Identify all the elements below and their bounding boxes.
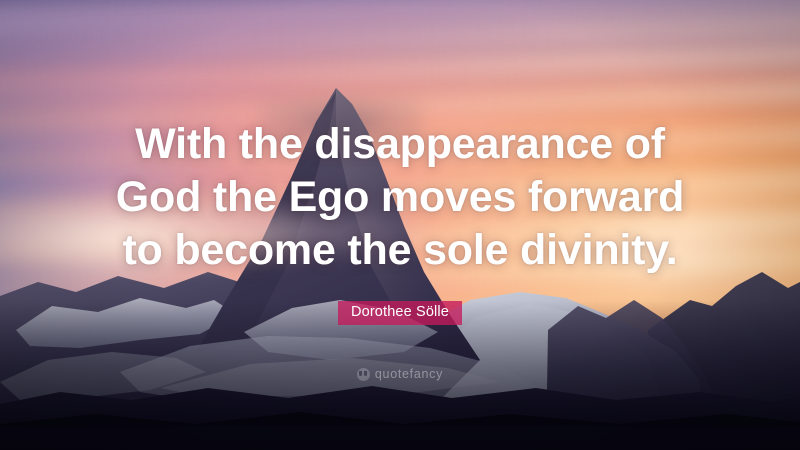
watermark[interactable]: quotefancy [0, 367, 800, 381]
watermark-brand-label: quotefancy [375, 367, 443, 381]
author-attribution: Dorothee Sölle [0, 301, 800, 325]
foreground-base [0, 426, 800, 450]
quotation-mark-circle-icon [357, 368, 370, 381]
quote-poster: With the disappearance of God the Ego mo… [0, 0, 800, 450]
quote-block: With the disappearance of God the Ego mo… [0, 118, 800, 277]
quote-text: With the disappearance of God the Ego mo… [60, 118, 740, 277]
author-name-badge[interactable]: Dorothee Sölle [338, 301, 462, 325]
